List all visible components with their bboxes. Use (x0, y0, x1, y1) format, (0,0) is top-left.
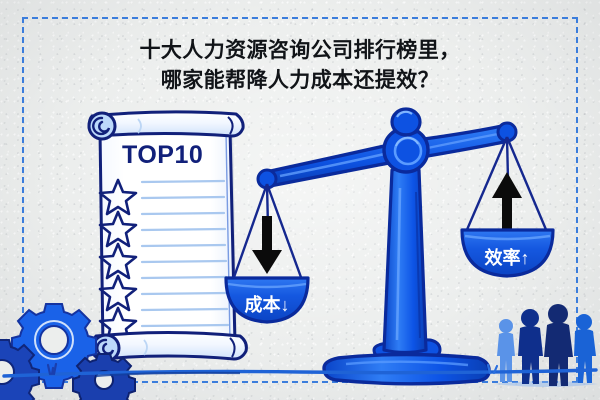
scroll-top-roll (89, 112, 243, 139)
page-title: 十大人力资源咨询公司排行榜里， 哪家能帮降人力成本还提效？ (0, 36, 600, 96)
ground-line-group (0, 352, 600, 400)
up-arrow-icon (492, 172, 522, 232)
poster-canvas: 十大人力资源咨询公司排行榜里， 哪家能帮降人力成本还提效？ (0, 0, 600, 400)
down-arrow-icon (252, 216, 282, 274)
scale-top-knob (392, 109, 420, 135)
right-pan-label: 效率↑ (485, 247, 530, 268)
grass-tuft-left (48, 364, 56, 374)
ground-line (4, 370, 596, 376)
left-pan-label: 成本↓ (245, 294, 290, 315)
scroll-title: TOP10 (122, 141, 203, 169)
